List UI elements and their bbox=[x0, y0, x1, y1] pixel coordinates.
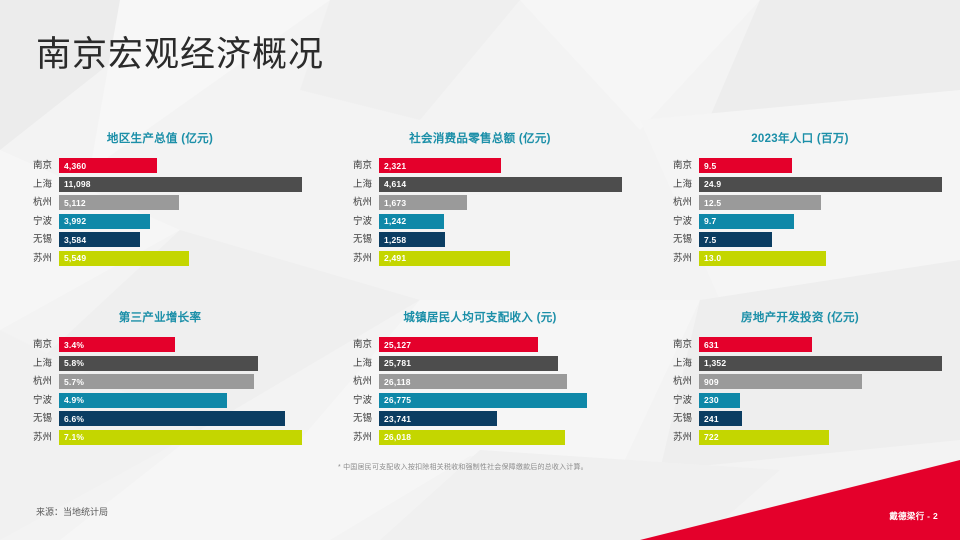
bar-value-label: 5.7% bbox=[64, 377, 84, 387]
bar-category-label: 杭州 bbox=[338, 195, 379, 210]
bar-value-label: 4.9% bbox=[64, 395, 84, 405]
bar-category-label: 南京 bbox=[658, 158, 699, 173]
bar-track: 5,549 bbox=[59, 251, 302, 266]
bar-category-label: 杭州 bbox=[658, 374, 699, 389]
bar-fill: 5.8% bbox=[59, 356, 258, 371]
bar-row: 宁波1,242 bbox=[338, 214, 622, 229]
bar-fill: 1,352 bbox=[699, 356, 942, 371]
bar-track: 241 bbox=[699, 411, 942, 426]
bar-fill: 4,360 bbox=[59, 158, 157, 173]
bar-fill: 1,242 bbox=[379, 214, 444, 229]
bar-category-label: 无锡 bbox=[18, 232, 59, 247]
bar-row: 杭州1,673 bbox=[338, 195, 622, 210]
bar-fill: 12.5 bbox=[699, 195, 821, 210]
bar-fill: 4,614 bbox=[379, 177, 622, 192]
bar-value-label: 1,242 bbox=[384, 216, 406, 226]
bar-fill: 1,673 bbox=[379, 195, 467, 210]
bar-track: 26,018 bbox=[379, 430, 622, 445]
bar-fill: 241 bbox=[699, 411, 742, 426]
bar-fill: 230 bbox=[699, 393, 740, 408]
bar-track: 4,614 bbox=[379, 177, 622, 192]
bar-category-label: 无锡 bbox=[18, 411, 59, 426]
bar-track: 26,775 bbox=[379, 393, 622, 408]
bar-category-label: 无锡 bbox=[658, 411, 699, 426]
bar-category-label: 南京 bbox=[338, 337, 379, 352]
bar-category-label: 南京 bbox=[338, 158, 379, 173]
bars-real-estate-investment: 南京631上海1,352杭州909宁波230无锡241苏州722 bbox=[658, 337, 942, 445]
bar-category-label: 杭州 bbox=[18, 374, 59, 389]
bar-value-label: 230 bbox=[704, 395, 719, 405]
bar-fill: 24.9 bbox=[699, 177, 942, 192]
bar-category-label: 苏州 bbox=[658, 430, 699, 445]
bar-fill: 26,775 bbox=[379, 393, 587, 408]
chart-title-disposable-income: 城镇居民人均可支配收入 (元) bbox=[338, 309, 622, 325]
bar-value-label: 241 bbox=[704, 414, 719, 424]
bar-row: 上海24.9 bbox=[658, 177, 942, 192]
bar-fill: 6.6% bbox=[59, 411, 285, 426]
bar-track: 5.7% bbox=[59, 374, 302, 389]
bar-value-label: 1,352 bbox=[704, 358, 726, 368]
bar-track: 1,352 bbox=[699, 356, 942, 371]
bar-category-label: 南京 bbox=[18, 337, 59, 352]
bar-fill: 909 bbox=[699, 374, 862, 389]
bar-fill: 26,118 bbox=[379, 374, 567, 389]
bar-row: 苏州26,018 bbox=[338, 430, 622, 445]
bar-track: 7.5 bbox=[699, 232, 942, 247]
bar-row: 无锡241 bbox=[658, 411, 942, 426]
bar-value-label: 25,127 bbox=[384, 340, 411, 350]
bars-gdp: 南京4,360上海11,098杭州5,112宁波3,992无锡3,584苏州5,… bbox=[18, 158, 302, 266]
bar-track: 6.6% bbox=[59, 411, 302, 426]
bar-category-label: 南京 bbox=[18, 158, 59, 173]
bar-fill: 3.4% bbox=[59, 337, 175, 352]
bars-population: 南京9.5上海24.9杭州12.5宁波9.7无锡7.5苏州13.0 bbox=[658, 158, 942, 266]
chart-block-disposable-income: 城镇居民人均可支配收入 (元) 南京25,127上海25,781杭州26,118… bbox=[320, 309, 640, 448]
bar-value-label: 26,775 bbox=[384, 395, 411, 405]
bar-value-label: 7.5 bbox=[704, 235, 716, 245]
bar-category-label: 上海 bbox=[338, 177, 379, 192]
chart-title-gdp: 地区生产总值 (亿元) bbox=[18, 130, 302, 146]
bar-category-label: 苏州 bbox=[658, 251, 699, 266]
bar-row: 南京25,127 bbox=[338, 337, 622, 352]
bar-fill: 11,098 bbox=[59, 177, 302, 192]
bar-row: 南京631 bbox=[658, 337, 942, 352]
bar-category-label: 上海 bbox=[658, 356, 699, 371]
bar-row: 无锡7.5 bbox=[658, 232, 942, 247]
bar-track: 1,242 bbox=[379, 214, 622, 229]
chart-block-real-estate-investment: 房地产开发投资 (亿元) 南京631上海1,352杭州909宁波230无锡241… bbox=[640, 309, 960, 448]
bar-track: 3.4% bbox=[59, 337, 302, 352]
bar-category-label: 上海 bbox=[658, 177, 699, 192]
bar-track: 26,118 bbox=[379, 374, 622, 389]
bar-fill: 722 bbox=[699, 430, 829, 445]
bar-track: 1,258 bbox=[379, 232, 622, 247]
bar-row: 南京9.5 bbox=[658, 158, 942, 173]
bar-row: 南京3.4% bbox=[18, 337, 302, 352]
bar-category-label: 宁波 bbox=[338, 214, 379, 229]
bar-row: 杭州909 bbox=[658, 374, 942, 389]
slide-canvas: 南京宏观经济概况 地区生产总值 (亿元) 南京4,360上海11,098杭州5,… bbox=[0, 0, 960, 540]
bar-row: 无锡6.6% bbox=[18, 411, 302, 426]
bar-fill: 1,258 bbox=[379, 232, 445, 247]
bar-track: 24.9 bbox=[699, 177, 942, 192]
bar-value-label: 26,018 bbox=[384, 432, 411, 442]
chart-title-real-estate-investment: 房地产开发投资 (亿元) bbox=[658, 309, 942, 325]
bar-value-label: 9.5 bbox=[704, 161, 716, 171]
bar-track: 4,360 bbox=[59, 158, 302, 173]
bar-value-label: 3,584 bbox=[64, 235, 86, 245]
bar-value-label: 23,741 bbox=[384, 414, 411, 424]
bar-value-label: 631 bbox=[704, 340, 719, 350]
bar-category-label: 苏州 bbox=[18, 251, 59, 266]
bar-track: 5,112 bbox=[59, 195, 302, 210]
bar-row: 无锡23,741 bbox=[338, 411, 622, 426]
bar-value-label: 5,112 bbox=[64, 198, 86, 208]
bar-track: 9.5 bbox=[699, 158, 942, 173]
bar-fill: 5,112 bbox=[59, 195, 179, 210]
bar-row: 苏州7.1% bbox=[18, 430, 302, 445]
bar-row: 无锡1,258 bbox=[338, 232, 622, 247]
bar-track: 2,491 bbox=[379, 251, 622, 266]
bar-value-label: 1,673 bbox=[384, 198, 406, 208]
bar-category-label: 上海 bbox=[338, 356, 379, 371]
bar-track: 11,098 bbox=[59, 177, 302, 192]
bar-row: 上海1,352 bbox=[658, 356, 942, 371]
chart-row-bottom: 第三产业增长率 南京3.4%上海5.8%杭州5.7%宁波4.9%无锡6.6%苏州… bbox=[0, 309, 960, 448]
bar-row: 宁波230 bbox=[658, 393, 942, 408]
chart-title-retail: 社会消费品零售总额 (亿元) bbox=[338, 130, 622, 146]
bar-value-label: 722 bbox=[704, 432, 719, 442]
corner-banner bbox=[640, 460, 960, 540]
bar-row: 无锡3,584 bbox=[18, 232, 302, 247]
source-note: 来源：当地统计局 bbox=[36, 505, 108, 518]
bar-value-label: 3,992 bbox=[64, 216, 86, 226]
bar-value-label: 909 bbox=[704, 377, 719, 387]
bar-fill: 9.7 bbox=[699, 214, 794, 229]
bar-value-label: 5,549 bbox=[64, 253, 86, 263]
bar-row: 上海11,098 bbox=[18, 177, 302, 192]
bar-value-label: 5.8% bbox=[64, 358, 84, 368]
bar-fill: 4.9% bbox=[59, 393, 227, 408]
bar-track: 5.8% bbox=[59, 356, 302, 371]
bar-value-label: 4,614 bbox=[384, 179, 406, 189]
bar-track: 3,584 bbox=[59, 232, 302, 247]
bar-category-label: 上海 bbox=[18, 177, 59, 192]
bar-track: 25,127 bbox=[379, 337, 622, 352]
chart-row-top: 地区生产总值 (亿元) 南京4,360上海11,098杭州5,112宁波3,99… bbox=[0, 130, 960, 269]
bar-fill: 5,549 bbox=[59, 251, 189, 266]
bars-retail: 南京2,321上海4,614杭州1,673宁波1,242无锡1,258苏州2,4… bbox=[338, 158, 622, 266]
bar-value-label: 9.7 bbox=[704, 216, 716, 226]
bar-track: 2,321 bbox=[379, 158, 622, 173]
bar-value-label: 6.6% bbox=[64, 414, 84, 424]
bar-category-label: 南京 bbox=[658, 337, 699, 352]
bar-row: 苏州722 bbox=[658, 430, 942, 445]
bar-track: 230 bbox=[699, 393, 942, 408]
bar-category-label: 宁波 bbox=[18, 393, 59, 408]
chart-title-population: 2023年人口 (百万) bbox=[658, 130, 942, 146]
bar-fill: 5.7% bbox=[59, 374, 254, 389]
bar-value-label: 7.1% bbox=[64, 432, 84, 442]
bar-fill: 3,992 bbox=[59, 214, 150, 229]
bar-category-label: 无锡 bbox=[338, 411, 379, 426]
bar-track: 722 bbox=[699, 430, 942, 445]
chart-block-retail: 社会消费品零售总额 (亿元) 南京2,321上海4,614杭州1,673宁波1,… bbox=[320, 130, 640, 269]
bar-value-label: 4,360 bbox=[64, 161, 86, 171]
bar-row: 上海25,781 bbox=[338, 356, 622, 371]
bar-row: 杭州26,118 bbox=[338, 374, 622, 389]
bar-row: 宁波9.7 bbox=[658, 214, 942, 229]
bar-row: 杭州12.5 bbox=[658, 195, 942, 210]
chart-grid: 地区生产总值 (亿元) 南京4,360上海11,098杭州5,112宁波3,99… bbox=[0, 130, 960, 448]
bar-category-label: 宁波 bbox=[658, 393, 699, 408]
bar-category-label: 杭州 bbox=[658, 195, 699, 210]
bar-fill: 23,741 bbox=[379, 411, 497, 426]
bar-value-label: 1,258 bbox=[384, 235, 406, 245]
bar-value-label: 2,491 bbox=[384, 253, 406, 263]
bar-fill: 7.5 bbox=[699, 232, 772, 247]
bar-value-label: 2,321 bbox=[384, 161, 406, 171]
bar-category-label: 苏州 bbox=[338, 430, 379, 445]
bar-value-label: 24.9 bbox=[704, 179, 721, 189]
bar-value-label: 12.5 bbox=[704, 198, 721, 208]
bar-value-label: 25,781 bbox=[384, 358, 411, 368]
bar-category-label: 上海 bbox=[18, 356, 59, 371]
bar-row: 上海4,614 bbox=[338, 177, 622, 192]
bar-row: 苏州13.0 bbox=[658, 251, 942, 266]
bar-category-label: 杭州 bbox=[338, 374, 379, 389]
bar-track: 23,741 bbox=[379, 411, 622, 426]
bar-row: 南京2,321 bbox=[338, 158, 622, 173]
bar-fill: 25,781 bbox=[379, 356, 558, 371]
bars-tertiary-growth: 南京3.4%上海5.8%杭州5.7%宁波4.9%无锡6.6%苏州7.1% bbox=[18, 337, 302, 445]
chart-title-tertiary-growth: 第三产业增长率 bbox=[18, 309, 302, 325]
bar-track: 9.7 bbox=[699, 214, 942, 229]
chart-block-tertiary-growth: 第三产业增长率 南京3.4%上海5.8%杭州5.7%宁波4.9%无锡6.6%苏州… bbox=[0, 309, 320, 448]
bar-track: 4.9% bbox=[59, 393, 302, 408]
chart-block-population: 2023年人口 (百万) 南京9.5上海24.9杭州12.5宁波9.7无锡7.5… bbox=[640, 130, 960, 269]
bar-value-label: 26,118 bbox=[384, 377, 411, 387]
bar-fill: 631 bbox=[699, 337, 812, 352]
bar-track: 12.5 bbox=[699, 195, 942, 210]
footnote: * 中国居民可支配收入按扣除相关税收和强制性社会保障缴款后的总收入计算。 bbox=[338, 462, 588, 473]
bar-category-label: 宁波 bbox=[658, 214, 699, 229]
bar-row: 上海5.8% bbox=[18, 356, 302, 371]
bar-row: 宁波4.9% bbox=[18, 393, 302, 408]
bar-fill: 7.1% bbox=[59, 430, 302, 445]
bars-disposable-income: 南京25,127上海25,781杭州26,118宁波26,775无锡23,741… bbox=[338, 337, 622, 445]
bar-row: 宁波3,992 bbox=[18, 214, 302, 229]
bar-row: 南京4,360 bbox=[18, 158, 302, 173]
bar-category-label: 苏州 bbox=[338, 251, 379, 266]
bar-category-label: 宁波 bbox=[338, 393, 379, 408]
bar-fill: 3,584 bbox=[59, 232, 140, 247]
bar-fill: 26,018 bbox=[379, 430, 565, 445]
bar-row: 杭州5,112 bbox=[18, 195, 302, 210]
bar-track: 631 bbox=[699, 337, 942, 352]
bar-category-label: 宁波 bbox=[18, 214, 59, 229]
bar-track: 7.1% bbox=[59, 430, 302, 445]
bar-value-label: 11,098 bbox=[64, 179, 91, 189]
bar-track: 25,781 bbox=[379, 356, 622, 371]
bar-fill: 13.0 bbox=[699, 251, 826, 266]
bar-track: 13.0 bbox=[699, 251, 942, 266]
bar-category-label: 苏州 bbox=[18, 430, 59, 445]
bar-row: 苏州2,491 bbox=[338, 251, 622, 266]
bar-row: 宁波26,775 bbox=[338, 393, 622, 408]
bar-fill: 25,127 bbox=[379, 337, 538, 352]
bar-category-label: 杭州 bbox=[18, 195, 59, 210]
chart-block-gdp: 地区生产总值 (亿元) 南京4,360上海11,098杭州5,112宁波3,99… bbox=[0, 130, 320, 269]
bar-value-label: 13.0 bbox=[704, 253, 721, 263]
bar-track: 909 bbox=[699, 374, 942, 389]
bar-row: 苏州5,549 bbox=[18, 251, 302, 266]
bar-value-label: 3.4% bbox=[64, 340, 84, 350]
bar-track: 1,673 bbox=[379, 195, 622, 210]
bar-row: 杭州5.7% bbox=[18, 374, 302, 389]
bar-fill: 2,491 bbox=[379, 251, 510, 266]
footer-brand: 戴德梁行 - 2 bbox=[889, 510, 938, 522]
bar-category-label: 无锡 bbox=[338, 232, 379, 247]
page-title: 南京宏观经济概况 bbox=[36, 33, 324, 77]
bar-track: 3,992 bbox=[59, 214, 302, 229]
bar-fill: 2,321 bbox=[379, 158, 501, 173]
bar-fill: 9.5 bbox=[699, 158, 792, 173]
bar-category-label: 无锡 bbox=[658, 232, 699, 247]
